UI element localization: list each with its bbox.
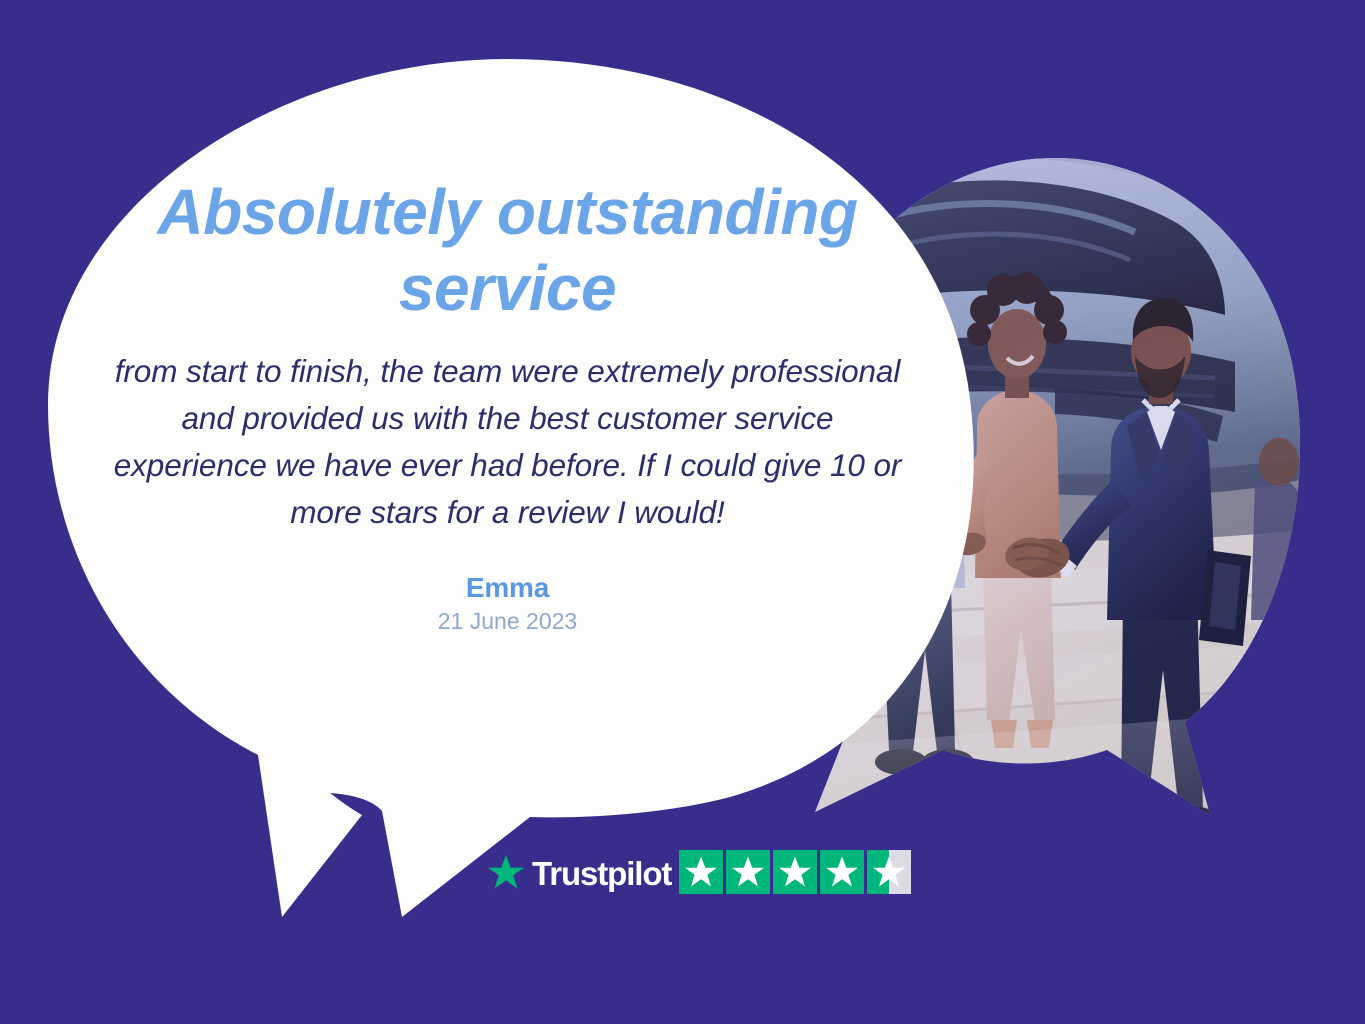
rating-star-1 bbox=[679, 850, 723, 894]
trustpilot-star-icon bbox=[487, 854, 525, 891]
rating-star-2 bbox=[726, 850, 770, 894]
rating-star-3 bbox=[773, 850, 817, 894]
trustpilot-wordmark: Trustpilot bbox=[532, 857, 671, 890]
rating-star-5-half bbox=[867, 850, 911, 894]
review-testimonial-graphic: Absolutely outstanding service from star… bbox=[0, 0, 1365, 1024]
trustpilot-rating[interactable]: Trustpilot bbox=[487, 849, 911, 895]
reviewer-name: Emma bbox=[85, 572, 930, 604]
review-body-text: from start to finish, the team were extr… bbox=[85, 348, 930, 536]
trustpilot-star-rating bbox=[679, 850, 911, 894]
rating-star-4 bbox=[820, 850, 864, 894]
review-headline: Absolutely outstanding service bbox=[85, 175, 930, 326]
review-date: 21 June 2023 bbox=[85, 608, 930, 635]
review-content: Absolutely outstanding service from star… bbox=[85, 175, 930, 635]
